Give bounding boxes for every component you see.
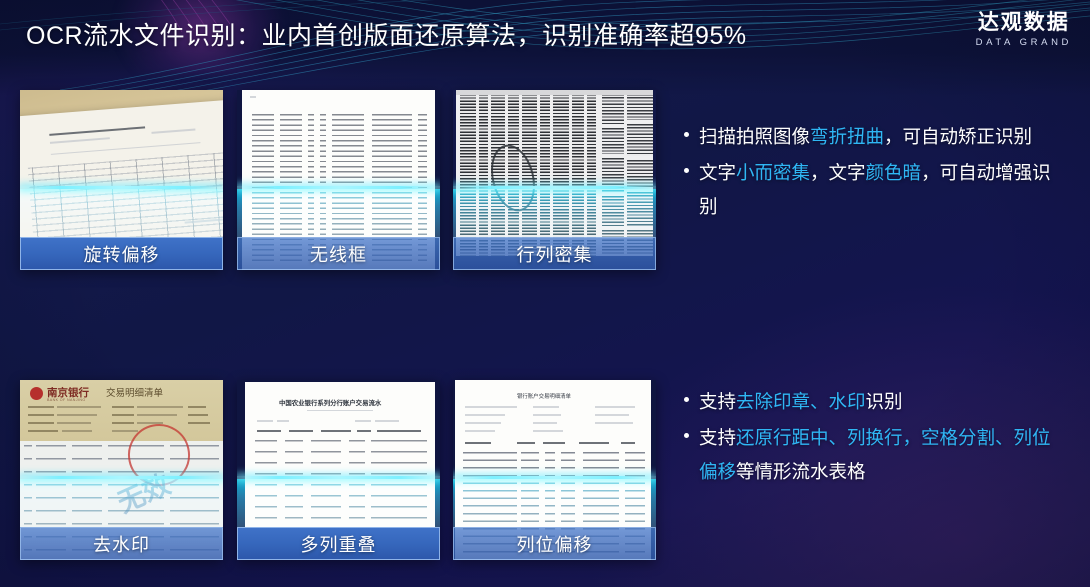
bullet-item: 支持还原行距中、列换行，空格分割、列位偏移等情形流水表格: [682, 421, 1062, 489]
receipt-header: 南京银行 BANK OF NANJING 交易明细清单: [20, 380, 223, 441]
plain-text: 扫描拍照图像: [699, 126, 810, 147]
dense-table-page: [456, 90, 653, 256]
highlighted-text: 颜色暗: [866, 162, 922, 183]
account-statement-doc-title: 银行账户交易明细清单: [517, 392, 571, 400]
plain-text: 支持: [699, 391, 736, 412]
thumbnail-rotation-offset[interactable]: 旋转偏移: [20, 90, 223, 270]
plain-text: 支持: [699, 427, 736, 448]
page-title: OCR流水文件识别：业内首创版面还原算法，识别准确率超95%: [26, 16, 747, 52]
bullet-group-bottom: 支持去除印章、水印识别 支持还原行距中、列换行，空格分割、列位偏移等情形流水表格: [682, 385, 1062, 491]
thumbnail-caption-column-overlap: 多列重叠: [237, 527, 440, 560]
plain-text: ，文字: [810, 162, 866, 183]
thumbnail-watermark-removal[interactable]: 南京银行 BANK OF NANJING 交易明细清单 无效: [20, 380, 223, 560]
brand-logo: 达观数据 DATA GRAND: [976, 12, 1072, 48]
bullet-dot-icon: [684, 433, 689, 438]
bullet-item: 文字小而密集，文字颜色暗，可自动增强识别: [682, 156, 1062, 224]
thumbnail-caption-column-shift: 列位偏移: [453, 527, 656, 560]
plain-text: ，可自动矫正识别: [884, 126, 1032, 147]
plain-text: 识别: [866, 391, 903, 412]
brand-name-cn: 达观数据: [976, 12, 1072, 33]
thumbnail-caption-dense-rows-cols: 行列密集: [453, 237, 656, 270]
receipt-doc-title: 交易明细清单: [106, 385, 163, 399]
thumbnail-column-shift[interactable]: 银行账户交易明细清单 列位偏移: [453, 380, 656, 560]
bullet-dot-icon: [684, 397, 689, 402]
bullet-text: 文字小而密集，文字颜色暗，可自动增强识别: [699, 156, 1062, 224]
bullet-dot-icon: [684, 132, 689, 137]
thumbnail-caption-watermark-removal: 去水印: [20, 527, 223, 560]
thumbnail-borderless-table[interactable]: 无线框: [237, 90, 440, 270]
plain-text: 等情形流水表格: [736, 461, 866, 482]
thumbnail-dense-rows-cols[interactable]: 行列密集: [453, 90, 656, 270]
bullet-group-top: 扫描拍照图像弯折扭曲，可自动矫正识别 文字小而密集，文字颜色暗，可自动增强识别: [682, 120, 1062, 226]
plain-text: 文字: [699, 162, 736, 183]
bullet-text: 扫描拍照图像弯折扭曲，可自动矫正识别: [699, 120, 1062, 154]
header: OCR流水文件识别：业内首创版面还原算法，识别准确率超95% 达观数据 DATA…: [0, 0, 1090, 70]
thumbnail-caption-borderless-table: 无线框: [237, 237, 440, 270]
bullet-item: 扫描拍照图像弯折扭曲，可自动矫正识别: [682, 120, 1062, 154]
thumbnail-column-overlap[interactable]: 中国农业银行系列分行账户交易流水 多列重叠: [237, 380, 440, 560]
thumbnail-caption-rotation-offset: 旋转偏移: [20, 237, 223, 270]
bullet-text: 支持还原行距中、列换行，空格分割、列位偏移等情形流水表格: [699, 421, 1062, 489]
bullet-dot-icon: [684, 168, 689, 173]
table-header-band: [456, 90, 653, 95]
highlighted-text: 去除印章、水印: [736, 391, 866, 412]
bullet-item: 支持去除印章、水印识别: [682, 385, 1062, 419]
bullet-text: 支持去除印章、水印识别: [699, 385, 1062, 419]
statement-doc-title: 中国农业银行系列分行账户交易流水: [279, 398, 381, 407]
brand-name-en: DATA GRAND: [976, 38, 1072, 48]
highlighted-text: 弯折扭曲: [810, 126, 884, 147]
bank-logo-icon: [30, 387, 43, 400]
receipt-bank-name-en: BANK OF NANJING: [47, 398, 86, 402]
highlighted-text: 小而密集: [736, 162, 810, 183]
